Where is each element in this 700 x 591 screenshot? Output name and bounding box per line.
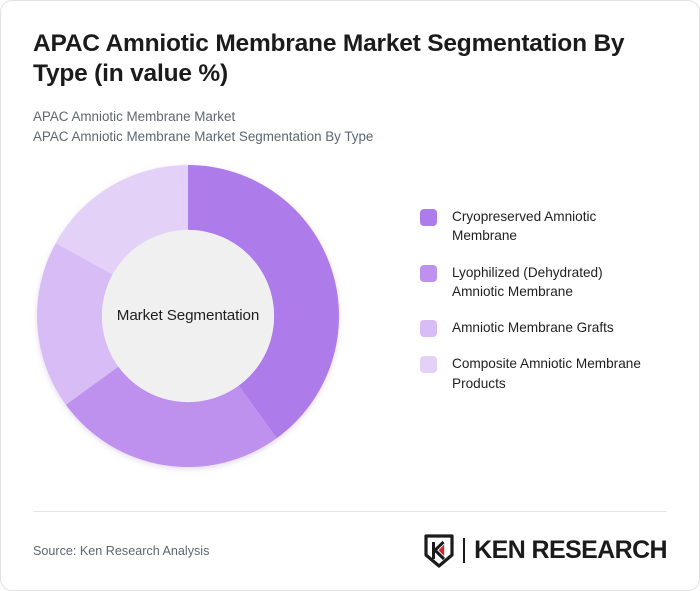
- brand-logo: KEN RESEARCH: [424, 534, 667, 568]
- legend-label: Cryopreserved Amniotic Membrane: [452, 207, 657, 246]
- legend-label: Amniotic Membrane Grafts: [452, 318, 614, 337]
- legend-swatch-icon: [420, 265, 437, 282]
- brand-wordmark: KEN RESEARCH: [463, 538, 667, 563]
- chart-legend: Cryopreserved Amniotic MembraneLyophiliz…: [343, 161, 667, 410]
- chart-footer: Source: Ken Research Analysis KEN RESEAR…: [1, 511, 699, 590]
- subtitle-group: APAC Amniotic Membrane Market APAC Amnio…: [33, 107, 667, 147]
- source-text: Source: Ken Research Analysis: [33, 544, 209, 558]
- subtitle-segmentation: APAC Amniotic Membrane Market Segmentati…: [33, 127, 667, 147]
- legend-swatch-icon: [420, 320, 437, 337]
- ken-research-shield-icon: [424, 534, 454, 568]
- legend-swatch-icon: [420, 356, 437, 373]
- chart-body: Market Segmentation Cryopreserved Amniot…: [1, 161, 699, 491]
- legend-item[interactable]: Cryopreserved Amniotic Membrane: [420, 207, 667, 246]
- legend-item[interactable]: Composite Amniotic Membrane Products: [420, 354, 667, 393]
- footer-content: Source: Ken Research Analysis KEN RESEAR…: [33, 511, 667, 590]
- chart-card: APAC Amniotic Membrane Market Segmentati…: [0, 0, 700, 591]
- chart-header: APAC Amniotic Membrane Market Segmentati…: [1, 1, 699, 147]
- subtitle-market: APAC Amniotic Membrane Market: [33, 107, 667, 127]
- legend-item[interactable]: Amniotic Membrane Grafts: [420, 318, 667, 337]
- legend-label: Lyophilized (Dehydrated) Amniotic Membra…: [452, 263, 657, 302]
- legend-item[interactable]: Lyophilized (Dehydrated) Amniotic Membra…: [420, 263, 667, 302]
- donut-hole: [102, 230, 274, 402]
- donut-svg: [33, 161, 343, 471]
- page-title: APAC Amniotic Membrane Market Segmentati…: [33, 29, 653, 90]
- legend-label: Composite Amniotic Membrane Products: [452, 354, 657, 393]
- donut-chart: Market Segmentation: [33, 161, 343, 471]
- legend-swatch-icon: [420, 209, 437, 226]
